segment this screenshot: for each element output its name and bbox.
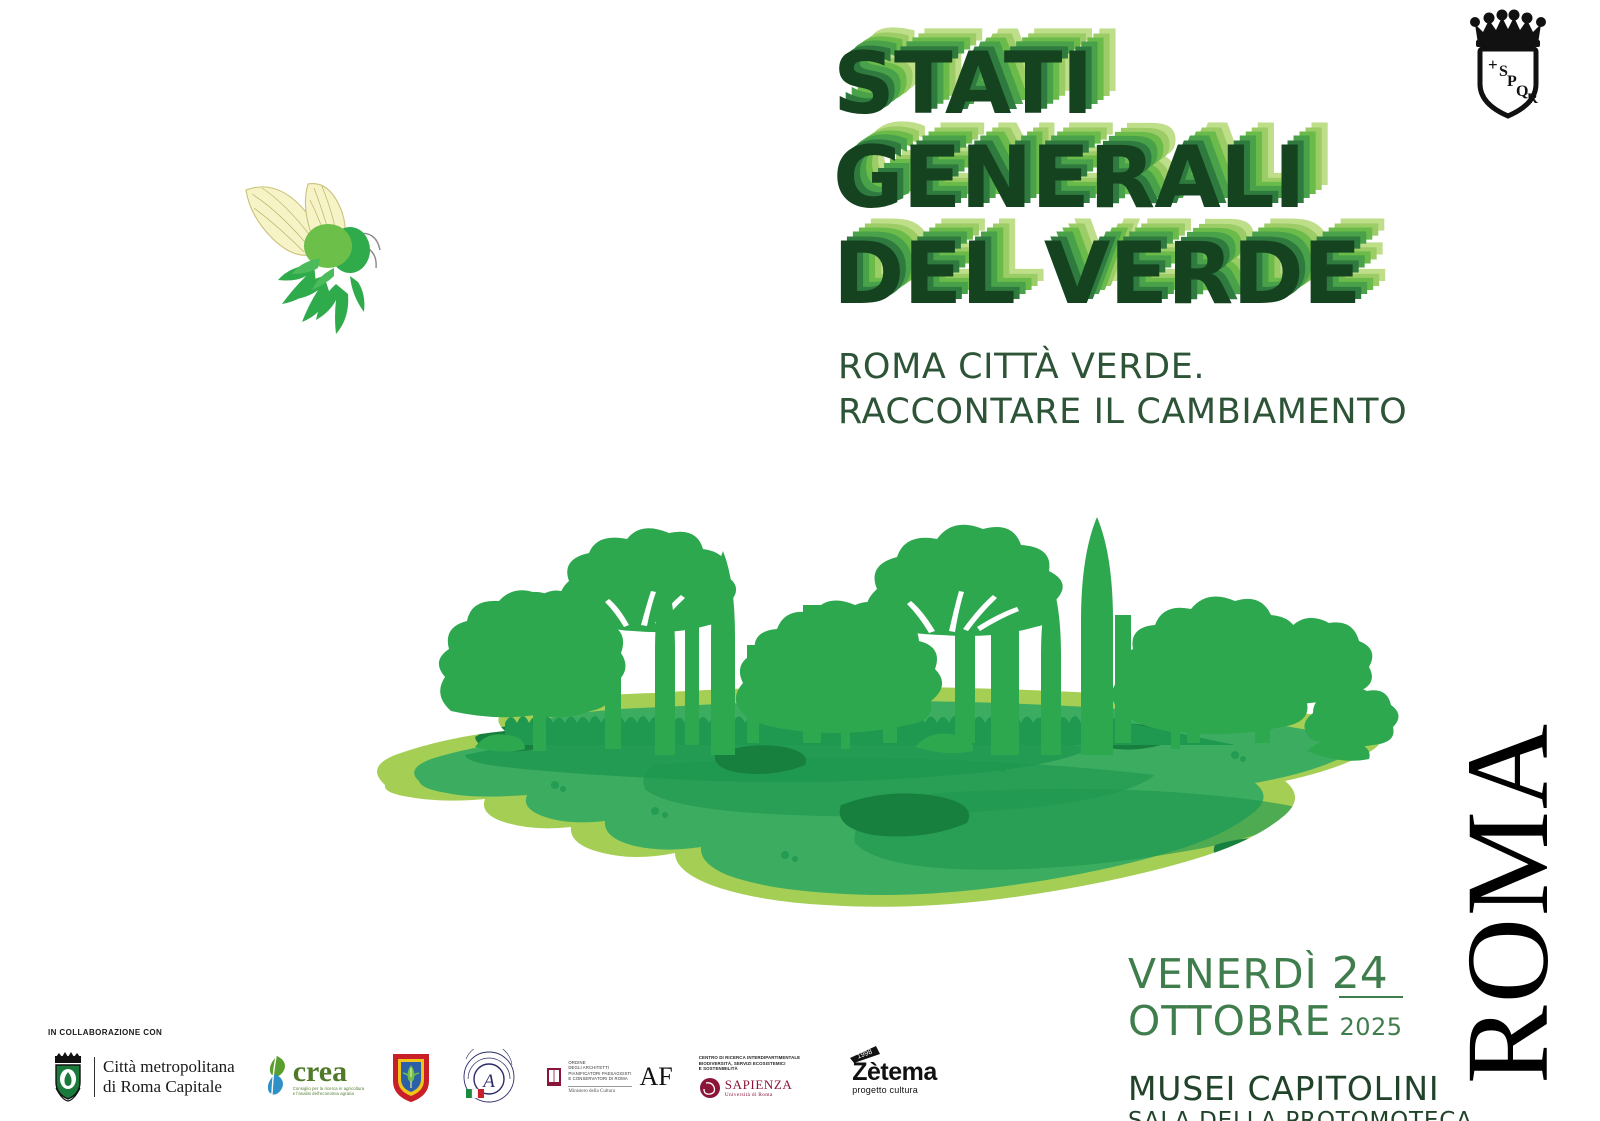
title-text-del-verde: DEL VERDE xyxy=(833,226,1361,322)
bee-illustration xyxy=(238,172,398,347)
roma-wordmark: ROMA xyxy=(1448,700,1568,1100)
logo-zetema[interactable]: 1998 Zètema progetto cultura xyxy=(852,1046,937,1108)
sapienza-sub: Università di Roma xyxy=(725,1092,793,1098)
venue-room: SALA DELLA PROTOMOTECA xyxy=(1128,1107,1388,1121)
svg-text:A: A xyxy=(482,1071,496,1092)
agronomi-seal-icon: A xyxy=(458,1049,520,1105)
event-weekday: VENERDÌ xyxy=(1128,950,1318,998)
cm-line-2: di Roma Capitale xyxy=(103,1077,235,1097)
logo-sapienza[interactable]: CENTRO DI RICERCA INTERDIPARTIMENTALE BI… xyxy=(699,1046,800,1108)
sapienza-head-line-3: E SOSTENIBILITÀ xyxy=(699,1066,800,1072)
logo-crea[interactable]: crea Consiglio per la ricerca in agricol… xyxy=(261,1046,365,1108)
title-text-stati: STATI xyxy=(833,38,1092,130)
logo-ministero[interactable]: ORDINE DEGLI ARCHITETTI PIANIFICATORI PA… xyxy=(546,1046,672,1108)
citta-metropolitana-name: Città metropolitana di Roma Capitale xyxy=(94,1057,235,1097)
logo-ordine-agronomi[interactable]: A xyxy=(458,1046,520,1108)
ministero-line-4: E CONSERVATORI DI ROMA xyxy=(568,1076,631,1081)
svg-text:+: + xyxy=(1488,55,1498,74)
ministero-caption: Ministero della Cultura xyxy=(568,1086,631,1094)
event-venue: MUSEI CAPITOLINI SALA DELLA PROTOMOTECA xyxy=(1128,1071,1388,1121)
cm-line-1: Città metropolitana xyxy=(103,1057,235,1077)
sapienza-head-line-1: CENTRO DI RICERCA INTERDIPARTIMENTALE xyxy=(699,1055,800,1061)
partners-label: IN COLLABORAZIONE CON xyxy=(48,1028,848,1037)
ministero-mark: AF xyxy=(640,1064,673,1090)
citta-metropolitana-crest-icon xyxy=(48,1052,88,1102)
title-text-generali: GENERALI xyxy=(833,130,1305,226)
poster-title: STATI STATI STATI STATI STATI STATI GENE… xyxy=(833,38,1393,322)
sapienza-wordmark: SAPIENZA xyxy=(725,1078,793,1092)
title-line-3: DEL VERDE DEL VERDE DEL VERDE DEL VERDE … xyxy=(833,226,1393,322)
zetema-sub: progetto cultura xyxy=(852,1085,937,1095)
event-date-month-year: OTTOBRE2025 xyxy=(1128,996,1388,1049)
spqr-crest: + S P Q R xyxy=(1458,4,1558,122)
crea-leaf-icon xyxy=(261,1054,291,1100)
event-year: 2025 xyxy=(1339,1013,1402,1041)
zetema-badge-icon: 1998 xyxy=(848,1044,882,1064)
venue-name: MUSEI CAPITOLINI xyxy=(1128,1071,1388,1107)
subtitle-line-2: RACCONTARE IL CAMBIAMENTO xyxy=(838,390,1407,435)
roma-wordmark-text: ROMA xyxy=(1449,724,1567,1084)
ministero-book-icon xyxy=(546,1066,562,1088)
event-day: 24 xyxy=(1332,948,1388,999)
partner-logos-section: IN COLLABORAZIONE CON Città metropolitan… xyxy=(48,1028,848,1108)
poster-canvas: + S P Q R xyxy=(0,0,1600,1121)
sapienza-seal-icon xyxy=(699,1077,721,1099)
partner-logo-row: Città metropolitana di Roma Capitale cre… xyxy=(48,1046,848,1108)
logo-shield-emblem[interactable] xyxy=(390,1046,432,1108)
logo-citta-metropolitana[interactable]: Città metropolitana di Roma Capitale xyxy=(48,1046,235,1108)
shield-emblem-icon xyxy=(390,1051,432,1103)
subtitle-line-1: ROMA CITTÀ VERDE. xyxy=(838,345,1407,390)
poster-subtitle: ROMA CITTÀ VERDE. RACCONTARE IL CAMBIAME… xyxy=(838,345,1407,435)
event-date-weekday-day: VENERDÌ 24 xyxy=(1128,952,1388,996)
svg-text:R: R xyxy=(1527,91,1538,107)
green-island-illustration xyxy=(355,455,1400,995)
event-details: VENERDÌ 24 OTTOBRE2025 MUSEI CAPITOLINI … xyxy=(1128,952,1388,1121)
crea-sub-line-2: e l'analisi dell'economia agraria xyxy=(293,1091,365,1097)
event-month: OTTOBRE xyxy=(1128,997,1331,1045)
crea-wordmark: crea xyxy=(293,1058,365,1086)
